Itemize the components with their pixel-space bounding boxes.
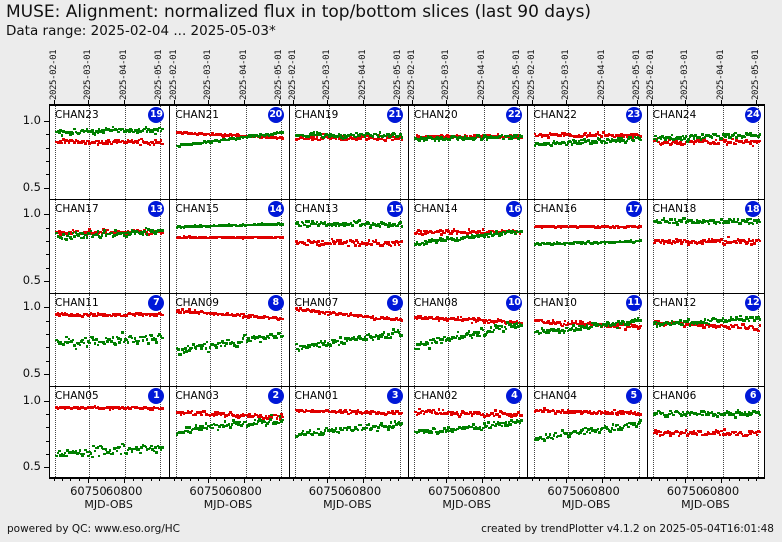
x-tick-label: 60800 <box>452 484 512 498</box>
data-point-green <box>739 315 742 318</box>
data-point-red <box>398 244 401 247</box>
panel-row: CHAN117CHAN098CHAN079CHAN0810CHAN1011CHA… <box>50 293 764 386</box>
data-point-green <box>720 137 723 140</box>
data-point-green <box>114 343 117 346</box>
y-tick-label: 0.5 <box>23 273 41 287</box>
data-point-green <box>632 139 635 142</box>
panel-index-badge[interactable]: 7 <box>148 295 164 311</box>
x-axis-caption: MJD-OBS <box>288 498 407 511</box>
y-tick-label: 0.5 <box>23 459 41 473</box>
channel-label: CHAN11 <box>55 297 99 309</box>
x-minor-tick <box>105 478 106 481</box>
data-point-green <box>672 414 675 417</box>
data-point-green <box>502 138 505 141</box>
data-point-red <box>734 143 737 146</box>
panel-chan24[interactable]: CHAN2424 <box>647 106 766 199</box>
panel-chan16[interactable]: CHAN1617 <box>527 200 646 292</box>
data-point-green <box>468 330 471 333</box>
data-point-green <box>75 348 78 351</box>
data-point-red <box>443 232 446 235</box>
data-point-green <box>355 339 358 342</box>
data-point-green <box>120 453 123 456</box>
data-point-green <box>189 431 192 434</box>
panel-row: CHAN051CHAN032CHAN013CHAN024CHAN045CHAN0… <box>50 386 764 479</box>
x-tick <box>208 478 209 483</box>
data-point-green <box>568 435 571 438</box>
channel-label: CHAN10 <box>533 297 577 309</box>
x-minor-tick <box>270 478 271 481</box>
top-date-label: 2025-05-01 <box>274 48 284 100</box>
top-date-label: 2025-02-01 <box>407 48 417 100</box>
data-point-red <box>701 242 704 245</box>
data-point-green <box>552 438 555 441</box>
panel-index-badge[interactable]: 10 <box>506 295 522 311</box>
data-point-green <box>498 328 501 331</box>
x-minor-tick <box>756 478 757 481</box>
data-point-red <box>368 239 371 242</box>
data-point-red <box>520 414 523 417</box>
data-point-green <box>520 324 523 327</box>
trend-plot-page: MUSE: Alignment: normalized flux in top/… <box>0 0 782 542</box>
data-point-green <box>505 328 508 331</box>
data-point-green <box>359 424 362 427</box>
x-tick <box>482 478 483 483</box>
data-point-green <box>457 331 460 334</box>
data-point-green <box>679 319 682 322</box>
data-point-green <box>91 456 94 459</box>
bottom-axis-line <box>49 478 765 479</box>
x-minor-tick <box>318 478 319 481</box>
data-point-green <box>150 334 153 337</box>
data-point-green <box>383 331 386 334</box>
vertical-gridline <box>246 387 247 479</box>
y-minor-tick <box>46 414 49 415</box>
panel-chan01[interactable]: CHAN013 <box>289 387 408 479</box>
panel-chan23[interactable]: CHAN2319 <box>50 106 169 199</box>
x-minor-tick <box>412 478 413 481</box>
data-point-green <box>79 344 82 347</box>
data-point-green <box>65 238 68 241</box>
data-point-green <box>417 348 420 351</box>
panel-chan04[interactable]: CHAN045 <box>527 387 646 479</box>
data-point-red <box>191 410 194 413</box>
data-point-green <box>302 430 305 433</box>
x-minor-tick <box>548 478 549 481</box>
data-point-green <box>338 431 341 434</box>
data-point-green <box>401 136 404 139</box>
data-point-red <box>384 139 387 142</box>
data-point-green <box>656 139 659 142</box>
x-minor-tick <box>539 478 540 481</box>
data-point-green <box>55 455 58 458</box>
panel-chan05[interactable]: CHAN051 <box>50 387 169 479</box>
x-minor-tick <box>97 478 98 481</box>
data-point-green <box>269 418 272 421</box>
panel-index-badge[interactable]: 1 <box>148 388 164 404</box>
data-point-green <box>195 347 198 350</box>
data-point-red <box>370 243 373 246</box>
x-minor-tick <box>693 478 694 481</box>
data-point-green <box>571 143 574 146</box>
channel-label: CHAN03 <box>175 390 219 402</box>
top-date-label: 2025-05-01 <box>393 48 403 100</box>
x-minor-tick <box>381 478 382 481</box>
data-point-green <box>102 131 105 134</box>
panel-chan12[interactable]: CHAN1212 <box>647 294 766 386</box>
panel-chan17[interactable]: CHAN1713 <box>50 200 169 292</box>
data-point-green <box>427 342 430 345</box>
data-point-green <box>224 420 227 423</box>
data-point-red <box>306 244 309 247</box>
panel-chan19[interactable]: CHAN1921 <box>289 106 408 199</box>
data-point-green <box>161 229 164 232</box>
x-minor-tick <box>293 478 294 481</box>
data-point-red <box>161 143 164 146</box>
panel-index-badge[interactable]: 24 <box>745 107 761 123</box>
footer-credit-right: created by trendPlotter v4.1.2 on 2025-0… <box>481 523 774 535</box>
data-point-red <box>139 144 142 147</box>
data-point-red <box>753 242 756 245</box>
x-tick-label: 60800 <box>214 484 274 498</box>
data-point-green <box>379 225 382 228</box>
vertical-gridline <box>246 200 247 292</box>
vertical-gridline <box>246 106 247 199</box>
data-point-green <box>708 223 711 226</box>
data-point-green <box>270 414 273 417</box>
panel-chan03[interactable]: CHAN032 <box>169 387 288 479</box>
data-point-green <box>94 450 97 453</box>
top-date-label: 2025-02-01 <box>527 48 537 100</box>
y-tick <box>44 374 49 375</box>
y-tick-label: 0.5 <box>23 366 41 380</box>
data-point-green <box>708 323 711 326</box>
data-point-red <box>401 412 404 415</box>
panel-chan21[interactable]: CHAN2120 <box>169 106 288 199</box>
data-point-green <box>605 142 608 145</box>
vertical-gridline <box>723 294 724 386</box>
x-minor-tick <box>659 478 660 481</box>
panel-chan14[interactable]: CHAN1416 <box>408 200 527 292</box>
panel-index-badge[interactable]: 11 <box>626 295 642 311</box>
x-minor-tick <box>353 478 354 481</box>
vertical-gridline <box>365 106 366 199</box>
y-minor-tick <box>46 347 49 348</box>
channel-label: CHAN19 <box>295 109 339 121</box>
x-tick <box>685 478 686 483</box>
panel-index-badge[interactable]: 2 <box>268 388 284 404</box>
top-date-label: 2025-04-01 <box>477 48 487 100</box>
x-minor-tick <box>344 478 345 481</box>
data-point-green <box>687 138 690 141</box>
data-point-green <box>351 224 354 227</box>
data-point-red <box>161 314 164 317</box>
vertical-gridline <box>125 200 126 292</box>
vertical-gridline <box>484 294 485 386</box>
data-point-green <box>180 353 183 356</box>
top-date-label: 2025-04-01 <box>716 48 726 100</box>
data-point-green <box>598 431 601 434</box>
y-tick <box>44 214 49 215</box>
data-point-red <box>619 327 622 330</box>
data-point-green <box>475 137 478 140</box>
data-point-green <box>268 337 271 340</box>
panel-index-badge[interactable]: 8 <box>268 295 284 311</box>
data-point-green <box>440 342 443 345</box>
data-point-green <box>146 338 149 341</box>
data-point-green <box>161 337 164 340</box>
data-point-green <box>759 318 762 321</box>
panel-chan13[interactable]: CHAN1315 <box>289 200 408 292</box>
data-point-green <box>616 327 619 330</box>
data-point-red <box>739 327 742 330</box>
data-point-red <box>494 409 497 412</box>
panel-chan10[interactable]: CHAN1011 <box>527 294 646 386</box>
panel-index-badge[interactable]: 9 <box>387 295 403 311</box>
data-point-green <box>639 319 642 322</box>
vertical-gridline <box>604 106 605 199</box>
vertical-gridline <box>604 200 605 292</box>
data-point-green <box>161 128 164 131</box>
channel-label: CHAN06 <box>653 390 697 402</box>
data-point-green <box>431 431 434 434</box>
data-point-green <box>244 334 247 337</box>
data-point-red <box>134 315 137 318</box>
vertical-gridline <box>484 387 485 479</box>
panel-index-badge[interactable]: 14 <box>268 201 284 217</box>
data-point-green <box>660 222 663 225</box>
data-point-green <box>680 220 683 223</box>
data-point-red <box>757 330 760 333</box>
y-tick <box>44 121 49 122</box>
panel-grid: CHAN2319CHAN2120CHAN1921CHAN2022CHAN2223… <box>49 105 765 478</box>
data-point-green <box>242 337 245 340</box>
panel-chan07[interactable]: CHAN079 <box>289 294 408 386</box>
data-point-green <box>376 430 379 433</box>
data-point-green <box>301 348 304 351</box>
data-point-red <box>653 242 656 245</box>
data-point-green <box>206 341 209 344</box>
data-point-green <box>322 432 325 435</box>
panel-chan20[interactable]: CHAN2022 <box>408 106 527 199</box>
y-tick <box>44 401 49 402</box>
data-point-red <box>723 428 726 431</box>
top-date-label: 2025-02-01 <box>169 48 179 100</box>
panel-index-badge[interactable]: 12 <box>745 295 761 311</box>
x-tick-label: 60800 <box>572 484 632 498</box>
x-tick <box>88 478 89 483</box>
data-point-green <box>752 223 755 226</box>
channel-label: CHAN07 <box>295 297 339 309</box>
data-point-green <box>112 336 115 339</box>
x-tick <box>566 478 567 483</box>
x-minor-tick <box>637 478 638 481</box>
panel-index-badge[interactable]: 6 <box>745 388 761 404</box>
data-point-green <box>131 450 134 453</box>
data-point-green <box>595 141 598 144</box>
x-minor-tick <box>748 478 749 481</box>
x-minor-tick <box>54 478 55 481</box>
x-minor-tick <box>261 478 262 481</box>
x-tick-label: 60800 <box>94 484 154 498</box>
data-point-green <box>147 342 150 345</box>
data-point-green <box>627 426 630 429</box>
y-tick-label: 1.0 <box>23 299 41 313</box>
y-minor-tick <box>46 454 49 455</box>
data-point-green <box>759 414 762 417</box>
data-point-red <box>704 326 707 329</box>
x-minor-tick <box>301 478 302 481</box>
panel-chan18[interactable]: CHAN1818 <box>647 200 766 292</box>
data-point-red <box>759 140 762 143</box>
data-point-green <box>565 144 568 147</box>
panel-chan06[interactable]: CHAN066 <box>647 387 766 479</box>
vertical-gridline <box>125 106 126 199</box>
data-point-green <box>639 419 642 422</box>
panel-index-badge[interactable]: 23 <box>626 107 642 123</box>
channel-label: CHAN14 <box>414 203 458 215</box>
data-point-green <box>639 239 642 242</box>
data-point-green <box>211 427 214 430</box>
data-point-green <box>103 343 106 346</box>
data-point-red <box>735 242 738 245</box>
x-minor-tick <box>181 478 182 481</box>
data-point-green <box>335 427 338 430</box>
vertical-gridline <box>604 294 605 386</box>
data-point-green <box>229 426 232 429</box>
x-minor-tick <box>437 478 438 481</box>
data-point-green <box>639 139 642 142</box>
data-point-green <box>435 341 438 344</box>
channel-label: CHAN09 <box>175 297 219 309</box>
top-date-label: 2025-03-01 <box>322 48 332 100</box>
data-point-green <box>338 344 341 347</box>
data-point-green <box>734 416 737 419</box>
top-date-label: 2025-03-01 <box>83 48 93 100</box>
panel-index-badge[interactable]: 17 <box>626 201 642 217</box>
data-point-green <box>701 414 704 417</box>
panel-index-badge[interactable]: 3 <box>387 388 403 404</box>
data-point-green <box>369 226 372 229</box>
x-minor-tick <box>702 478 703 481</box>
data-point-red <box>354 244 357 247</box>
x-axis-caption: MJD-OBS <box>49 498 168 511</box>
x-axis-caption: MJD-OBS <box>646 498 765 511</box>
data-point-green <box>62 233 65 236</box>
top-date-label: 2025-03-01 <box>441 48 451 100</box>
data-point-red <box>759 240 762 243</box>
vertical-gridline <box>484 200 485 292</box>
data-point-green <box>244 421 247 424</box>
x-minor-tick <box>491 478 492 481</box>
x-minor-tick <box>133 478 134 481</box>
y-tick <box>44 188 49 189</box>
y-minor-tick <box>46 148 49 149</box>
data-point-green <box>472 333 475 336</box>
panel-index-badge[interactable]: 20 <box>268 107 284 123</box>
data-point-red <box>639 325 642 328</box>
x-minor-tick <box>473 478 474 481</box>
data-point-green <box>279 415 282 418</box>
data-point-green <box>84 337 87 340</box>
data-point-red <box>696 433 699 436</box>
data-point-green <box>471 337 474 340</box>
data-point-green <box>627 324 630 327</box>
data-point-green <box>65 455 68 458</box>
x-tick <box>446 478 447 483</box>
data-point-green <box>520 230 523 233</box>
data-point-green <box>125 452 128 455</box>
y-tick <box>44 307 49 308</box>
panel-chan08[interactable]: CHAN0810 <box>408 294 527 386</box>
data-point-green <box>98 455 101 458</box>
data-point-green <box>667 415 670 418</box>
x-minor-tick <box>398 478 399 481</box>
data-point-green <box>434 139 437 142</box>
x-minor-tick <box>739 478 740 481</box>
panel-index-badge[interactable]: 21 <box>387 107 403 123</box>
data-point-green <box>477 331 480 334</box>
y-tick <box>44 281 49 282</box>
x-minor-tick <box>174 478 175 481</box>
panel-index-badge[interactable]: 4 <box>506 388 522 404</box>
panel-chan22[interactable]: CHAN2223 <box>527 106 646 199</box>
data-point-red <box>613 409 616 412</box>
x-minor-tick <box>62 478 63 481</box>
x-minor-tick <box>390 478 391 481</box>
y-tick-label: 0.5 <box>23 180 41 194</box>
data-point-green <box>343 342 346 345</box>
data-point-green <box>103 229 106 232</box>
data-point-green <box>118 341 121 344</box>
data-point-green <box>368 423 371 426</box>
data-point-green <box>401 225 404 228</box>
y-tick-label: 1.0 <box>23 393 41 407</box>
data-point-red <box>547 136 550 139</box>
panel-chan09[interactable]: CHAN098 <box>169 294 288 386</box>
y-minor-tick <box>46 334 49 335</box>
channel-label: CHAN16 <box>533 203 577 215</box>
data-point-green <box>493 329 496 332</box>
channel-label: CHAN18 <box>653 203 697 215</box>
data-point-green <box>428 347 431 350</box>
panel-chan02[interactable]: CHAN024 <box>408 387 527 479</box>
vertical-gridline <box>604 387 605 479</box>
panel-chan15[interactable]: CHAN1514 <box>169 200 288 292</box>
data-point-green <box>155 341 158 344</box>
data-point-green <box>281 131 284 134</box>
panel-chan11[interactable]: CHAN117 <box>50 294 169 386</box>
x-tick <box>244 478 245 483</box>
vertical-gridline <box>125 387 126 479</box>
x-minor-tick <box>159 478 160 481</box>
data-point-green <box>748 320 751 323</box>
x-minor-tick <box>234 478 235 481</box>
panel-index-badge[interactable]: 5 <box>626 388 642 404</box>
data-point-red <box>281 318 284 321</box>
data-point-green <box>358 219 361 222</box>
y-minor-tick <box>46 161 49 162</box>
data-point-red <box>81 316 84 319</box>
data-point-green <box>236 345 239 348</box>
y-minor-tick <box>46 134 49 135</box>
data-point-red <box>281 236 284 239</box>
data-point-red <box>717 142 720 145</box>
data-point-green <box>583 433 586 436</box>
data-point-red <box>401 240 404 243</box>
data-point-green <box>759 221 762 224</box>
vertical-gridline <box>723 200 724 292</box>
x-minor-tick <box>455 478 456 481</box>
